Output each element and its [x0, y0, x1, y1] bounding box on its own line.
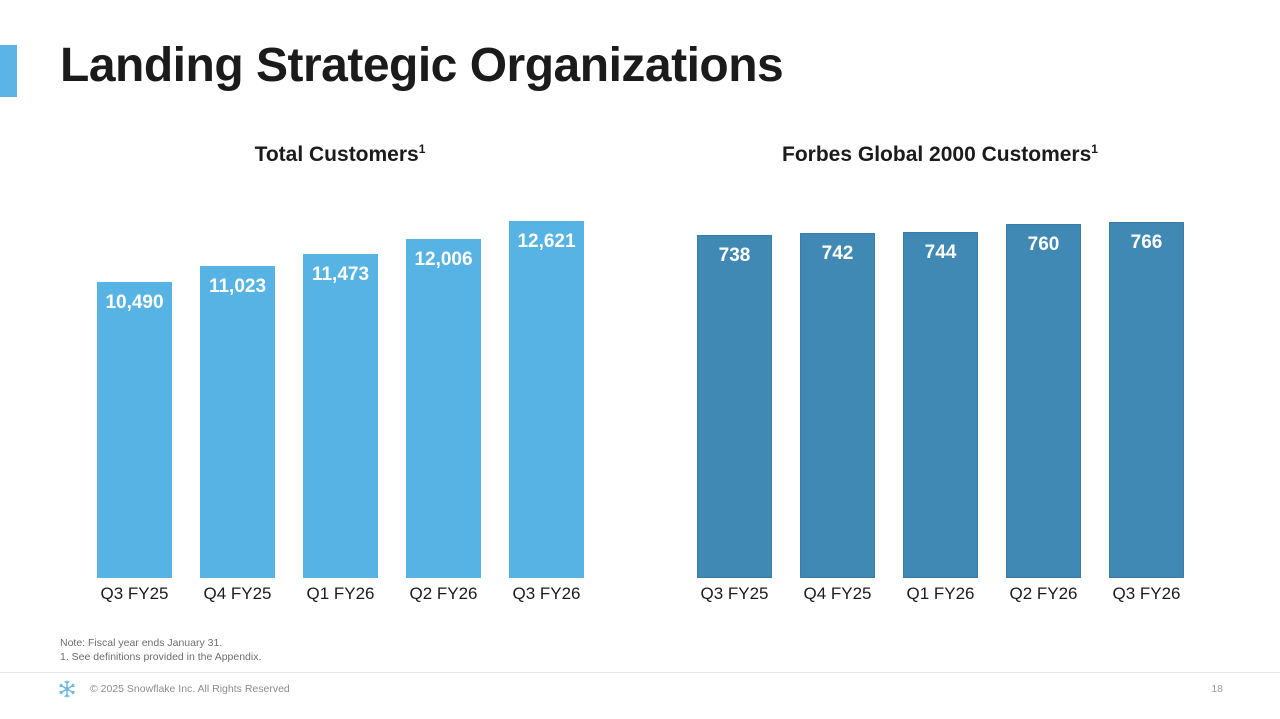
bar-value-label: 744 — [904, 242, 977, 264]
chart-forbes-global-2000-customers: Forbes Global 2000 Customers1 738Q3 FY25… — [660, 140, 1220, 630]
chart-title-text: Forbes Global 2000 Customers — [782, 143, 1091, 166]
bar[interactable]: 760 — [1006, 224, 1081, 578]
snowflake-icon — [57, 679, 77, 699]
bar-value-label: 12,006 — [407, 249, 480, 271]
bar[interactable]: 744 — [903, 232, 978, 578]
title-accent-bar — [0, 45, 17, 97]
chart-title-text: Total Customers — [255, 143, 419, 166]
chart-title-footnote-marker: 1 — [1091, 142, 1098, 156]
bar[interactable]: 10,490 — [97, 282, 172, 578]
bar-slot: 742Q4 FY25 — [800, 188, 875, 578]
category-label: Q1 FY26 — [889, 584, 992, 604]
bar-value-label: 12,621 — [510, 231, 583, 253]
bar-value-label: 742 — [801, 243, 874, 265]
category-label: Q1 FY26 — [289, 584, 392, 604]
bar-slot: 744Q1 FY26 — [903, 188, 978, 578]
bar-value-label: 10,490 — [98, 292, 171, 314]
bar-slot: 766Q3 FY26 — [1109, 188, 1184, 578]
chart-title-footnote-marker: 1 — [419, 142, 426, 156]
bar-slot: 12,006Q2 FY26 — [406, 188, 481, 578]
category-label: Q2 FY26 — [392, 584, 495, 604]
bar[interactable]: 11,023 — [200, 266, 275, 578]
footer-page-number: 18 — [1211, 683, 1223, 695]
chart-title-total-customers: Total Customers1 — [60, 140, 620, 170]
bar-value-label: 11,023 — [201, 276, 274, 298]
plot-area-forbes-global-2000-customers: 738Q3 FY25742Q4 FY25744Q1 FY26760Q2 FY26… — [660, 188, 1220, 578]
page-title: Landing Strategic Organizations — [60, 38, 783, 93]
plot-area-total-customers: 10,490Q3 FY2511,023Q4 FY2511,473Q1 FY261… — [60, 188, 620, 578]
footnote-note: Note: Fiscal year ends January 31. — [60, 636, 261, 650]
category-label: Q4 FY25 — [786, 584, 889, 604]
category-label: Q2 FY26 — [992, 584, 1095, 604]
footer-divider — [0, 672, 1280, 673]
category-label: Q3 FY25 — [683, 584, 786, 604]
category-label: Q3 FY26 — [495, 584, 598, 604]
bar[interactable]: 12,006 — [406, 239, 481, 578]
bar-value-label: 738 — [698, 245, 771, 267]
category-label: Q3 FY26 — [1095, 584, 1198, 604]
bar-slot: 12,621Q3 FY26 — [509, 188, 584, 578]
chart-title-forbes-global-2000-customers: Forbes Global 2000 Customers1 — [660, 140, 1220, 170]
bar-slot: 760Q2 FY26 — [1006, 188, 1081, 578]
bar[interactable]: 11,473 — [303, 254, 378, 578]
chart-total-customers: Total Customers1 10,490Q3 FY2511,023Q4 F… — [60, 140, 620, 630]
footer-copyright: © 2025 Snowflake Inc. All Rights Reserve… — [90, 683, 290, 695]
bar-slot: 738Q3 FY25 — [697, 188, 772, 578]
footnotes: Note: Fiscal year ends January 31. 1. Se… — [60, 636, 261, 664]
footnote-definition: 1. See definitions provided in the Appen… — [60, 650, 261, 664]
bar-slot: 11,473Q1 FY26 — [303, 188, 378, 578]
bar[interactable]: 742 — [800, 233, 875, 578]
bar-slot: 10,490Q3 FY25 — [97, 188, 172, 578]
category-label: Q3 FY25 — [83, 584, 186, 604]
bar-slot: 11,023Q4 FY25 — [200, 188, 275, 578]
category-label: Q4 FY25 — [186, 584, 289, 604]
bar-value-label: 766 — [1110, 232, 1183, 254]
bar[interactable]: 12,621 — [509, 221, 584, 578]
bar[interactable]: 738 — [697, 235, 772, 578]
bar[interactable]: 766 — [1109, 222, 1184, 578]
bar-value-label: 11,473 — [304, 264, 377, 286]
bar-value-label: 760 — [1007, 234, 1080, 256]
